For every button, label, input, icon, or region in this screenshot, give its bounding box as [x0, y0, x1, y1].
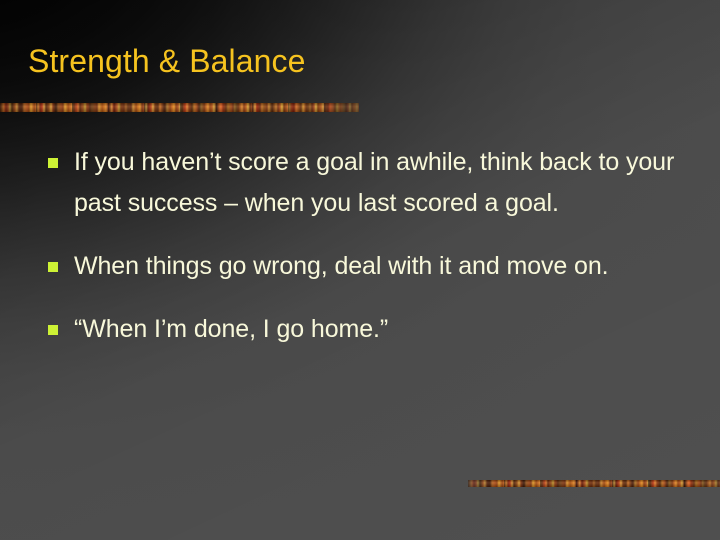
divider-edge-fade — [0, 103, 359, 112]
square-bullet-icon — [48, 262, 58, 272]
bottom-divider-bar — [468, 480, 720, 487]
list-item: When things go wrong, deal with it and m… — [46, 246, 694, 287]
square-bullet-icon — [48, 325, 58, 335]
list-item: If you haven’t score a goal in awhile, t… — [46, 142, 694, 224]
bullet-text: When things go wrong, deal with it and m… — [74, 246, 694, 287]
top-divider-bar — [0, 103, 359, 112]
bullet-text: “When I’m done, I go home.” — [74, 309, 694, 350]
slide-body-content: If you haven’t score a goal in awhile, t… — [46, 142, 694, 350]
slide-title: Strength & Balance — [28, 41, 306, 81]
list-item: “When I’m done, I go home.” — [46, 309, 694, 350]
presentation-slide: Strength & Balance If you haven’t score … — [0, 0, 720, 540]
divider-edge-fade — [468, 480, 720, 487]
square-bullet-icon — [48, 158, 58, 168]
bullet-text: If you haven’t score a goal in awhile, t… — [74, 142, 694, 224]
